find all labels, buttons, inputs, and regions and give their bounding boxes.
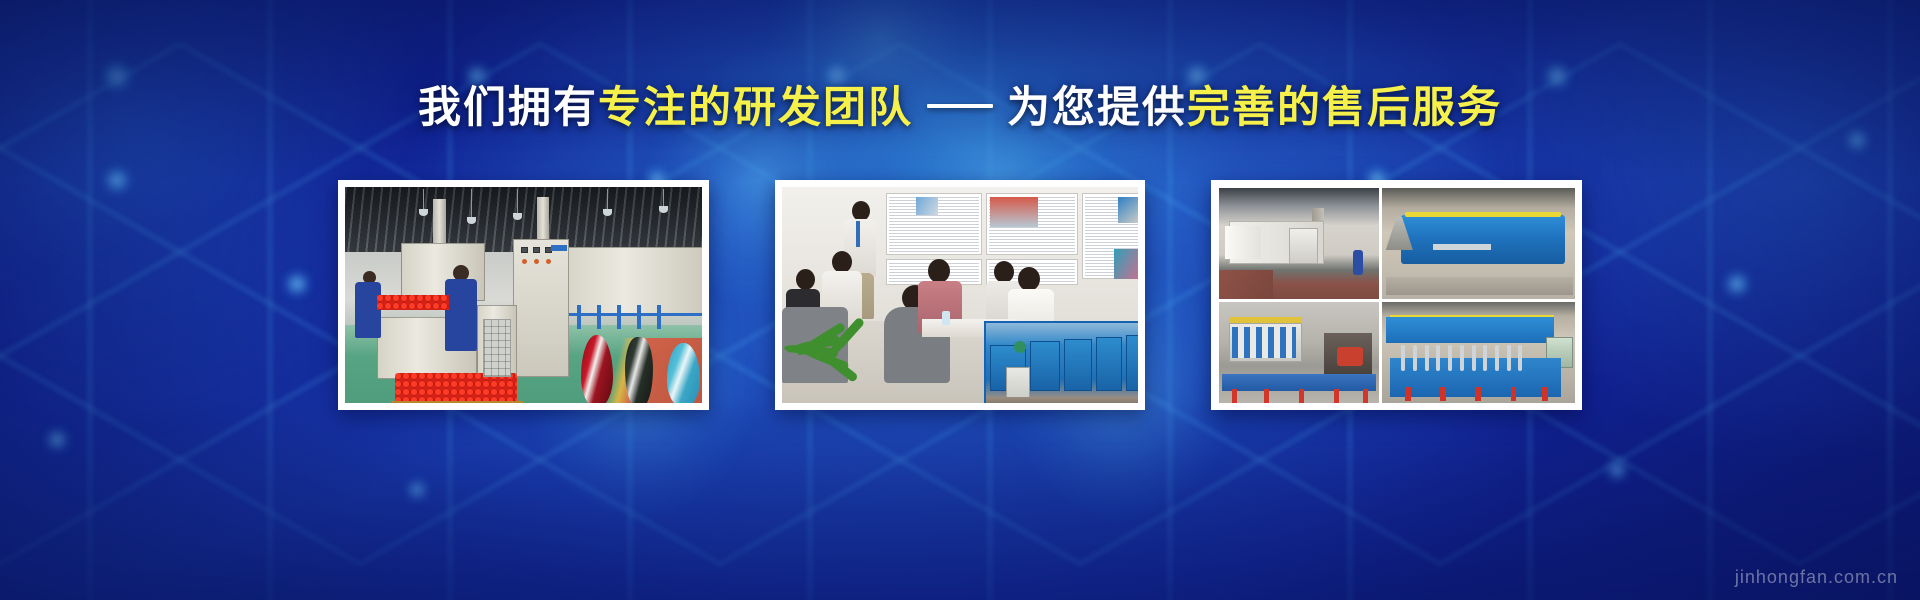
collage-cell-bottom-right — [1382, 302, 1575, 403]
client-meeting-photo — [782, 187, 1138, 403]
production-line-photo — [345, 187, 702, 403]
photo-panel-production-line[interactable] — [338, 180, 709, 410]
headline-dash-icon — [927, 104, 993, 108]
collage-cell-top-left — [1219, 188, 1379, 299]
headline-segment-4: 完善的售后服务 — [1187, 84, 1502, 132]
photo-panel-equipment-collage[interactable] — [1211, 180, 1582, 410]
site-watermark: jinhongfan.com.cn — [1735, 567, 1898, 588]
collage-cell-bottom-left — [1219, 302, 1379, 403]
promo-banner: 我们拥有专注的研发团队为您提供完善的售后服务 — [0, 0, 1920, 600]
collage-cell-top-right — [1382, 188, 1575, 299]
photo-panel-row — [0, 180, 1920, 410]
equipment-collage-photo — [1218, 187, 1575, 403]
headline-segment-3: 为您提供 — [1007, 84, 1187, 132]
headline-segment-1: 我们拥有 — [418, 84, 598, 132]
headline-segment-2: 专注的研发团队 — [598, 84, 913, 132]
banner-headline: 我们拥有专注的研发团队为您提供完善的售后服务 — [0, 82, 1920, 136]
photo-panel-client-meeting[interactable] — [775, 180, 1145, 410]
